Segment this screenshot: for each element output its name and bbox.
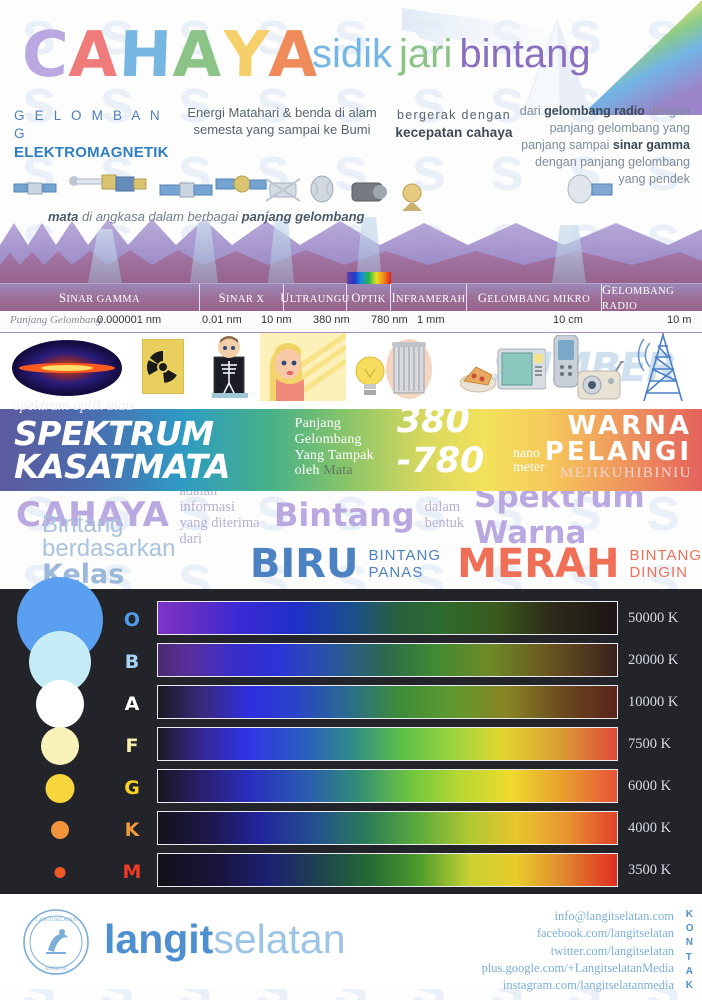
chart-row-F: 7500 K [157,723,702,765]
info-bintang-dingin: BINTANG DINGIN [629,547,702,582]
star-size-F [41,727,79,765]
warna-mnemonic: MEJIKUHIBINIU [545,466,692,481]
optical-color-chip [347,272,391,284]
kontak-letter: N [686,936,694,950]
wavelength-value: 0.01 nm [202,314,242,326]
telescope-icon-2 [311,176,333,202]
info-bintang: Bintang [274,496,415,534]
contact-link[interactable]: instagram.com/langitselatanmedia [482,977,674,994]
visible-spectrum-band: spektrum optik atau SPEKTRUM KASATMATA P… [0,409,702,491]
visible-range-unit: nano meter [513,447,545,476]
galaxy-gamma-map-icon [12,339,122,397]
radio-tower-icon [634,333,692,403]
em-band-label: GELOMBANG RADIO [602,283,702,313]
pjg-line2: Yang Tampak oleh Mata [295,448,383,479]
radiation-hazard-sign-icon [142,339,184,394]
info-b3-l2: PANAS [369,564,424,581]
unit-line1: nano [513,447,545,462]
langitselatan-logo-icon[interactable]: LANGITSELATAN ASTRO ID [22,908,90,976]
em-band-gelombang-radio[interactable]: GELOMBANG RADIO [602,284,702,312]
star-size-M [55,867,66,878]
spectrum-strip-B [157,643,618,677]
em-band-label: SINAR X [219,291,265,306]
temperature-label-G: 6000 K [624,778,702,795]
spectral-class-letter-K: K [125,819,140,841]
temperature-label-B: 20000 K [624,652,702,669]
info-b1-l1: Bintang berdasarkan [42,511,175,562]
radio-receiver-icon [576,361,630,401]
infographic-page: ssssssssssssssssssssssssssssssssssssssss… [0,0,702,1000]
chart-row-K: 4000 K [157,807,702,849]
warna-pelangi-group: WARNA PELANGI MEJIKUHIBINIU [545,413,692,481]
header: CAHAYA sidikjaribintang [0,0,702,95]
intro-gelombang-label: G E L O M B A N G [14,107,174,143]
page-title: CAHAYA [22,18,319,91]
brand-name: langitselatan [104,916,346,963]
pjg-line1: Panjang Gelombang [295,416,383,447]
spectral-class-letter-M: M [123,861,142,883]
star-size-G [46,774,75,803]
kontak-letter: K [686,979,694,993]
info-biru: BIRU [250,541,359,587]
satellite-caption-bold: mata [48,209,78,224]
warna-line2: PELANGI [545,439,692,466]
contact-link[interactable]: twitter.com/langitselatan [482,943,674,960]
telescope-icon-hubble [266,179,300,201]
star-size-K [51,821,69,839]
title-letter: C [21,18,71,91]
unit-line2: meter [513,461,545,476]
intro-electromagnetic: G E L O M B A N G ELEKTROMAGNETIK [14,101,174,173]
temperature-label-K: 4000 K [624,820,702,837]
subtitle-word: sidik [312,32,392,76]
satellite-icon-3 [116,177,146,191]
satellite-icon-2 [69,175,116,189]
chart-row-G: 6000 K [157,765,702,807]
info-a4-l2: bentuk [425,515,464,531]
wavelength-value: 10 m [667,314,691,326]
em-band-gelombang-mikro[interactable]: GELOMBANG MIKRO [467,284,602,312]
light-bulb-icon [354,353,386,399]
em-band-label: SINAR GAMMA [59,291,140,306]
temperature-label-A: 10000 K [624,694,702,711]
satellite-icon-1 [14,183,56,194]
temperature-label-O: 50000 K [624,610,702,627]
kontak-letter: A [686,965,694,979]
intro-range-gamma: sinar gamma [613,138,690,152]
brand-langit: langit [104,916,213,962]
kontak-vertical-label: KONTAK [686,908,694,993]
subtitle-word: bintang [459,32,590,76]
kasatmata-title: SPEKTRUM KASATMATA [14,417,281,483]
satellite-wave-zone: mata di angkasa dalam berbagai panjang g… [0,173,702,283]
em-band-label: INFRAMERAH [391,291,465,306]
em-band-sinar-gamma[interactable]: SINAR GAMMA [0,284,200,312]
satellite-caption-rest: di angkasa dalam berbagai [78,209,241,224]
spectral-class-letter-A: A [125,693,140,715]
satellite-icon-6 [568,175,612,203]
warna-line1: WARNA [545,413,692,440]
em-band-label: GELOMBANG MIKRO [478,291,590,306]
em-band-inframerah[interactable]: INFRAMERAH [391,284,467,312]
chart-row-B: 20000 K [157,639,702,681]
info-row-kelas: Bintang berdasarkan Kelas Spektrum BIRU … [0,539,702,589]
spectrum-strip-O [157,601,618,635]
intro-elektromagnetik-label: ELEKTROMAGNETIK [14,143,174,163]
kasatmata-subtitle: spektrum optik atau [14,399,281,414]
chart-spectrum-strips: 50000 K20000 K10000 K7500 K6000 K4000 K3… [157,589,702,894]
spectral-class-chart: OBAFGKM 50000 K20000 K10000 K7500 K6000 … [0,589,702,894]
em-band-optik[interactable]: OPTIK [347,284,391,312]
wavelength-value: 1 mm [417,314,445,326]
em-spectrum-bar: SINAR GAMMASINAR XULTRAUNGUOPTIKINFRAMER… [0,283,702,311]
info-b5-l2: DINGIN [629,564,688,581]
temperature-label-M: 3500 K [624,862,702,879]
wavelength-row: Panjang Gelombang 0.000001 nm0.01 nm10 n… [0,311,702,333]
satellite-icon-5 [216,176,266,192]
contact-link[interactable]: facebook.com/langitselatan [482,925,674,942]
kontak-letter: O [686,922,694,936]
svg-text:LANGITSELATAN: LANGITSELATAN [36,918,77,923]
wavelength-value: 10 cm [553,314,583,326]
kontak-letter: T [686,951,694,965]
spectrum-strip-M [157,853,618,887]
visible-range-value: 380 -780 [397,401,505,481]
em-band-label: ULTRAUNGU [280,291,349,306]
kasatmata-title-group: spektrum optik atau SPEKTRUM KASATMATA [14,399,281,483]
title-letter: Y [221,18,270,91]
spectrum-strip-A [157,685,618,719]
title-letter: A [171,18,223,91]
em-band-ultraungu[interactable]: ULTRAUNGU [284,284,347,312]
contact-link[interactable]: info@langitselatan.com [482,908,674,925]
footer: LANGITSELATAN ASTRO ID langitselatan inf… [0,894,702,989]
microwave-oven-icon [460,345,546,399]
kontak-letter: K [686,908,694,922]
intro-energy-text: Energi Matahari & benda di alam semesta … [174,101,390,173]
pjg-line2-b: Mata [323,463,353,478]
wavelength-caption: Panjang Gelombang [10,314,101,326]
brand-selatan: selatan [213,916,345,962]
wavelength-value: 780 nm [371,314,408,326]
info-dalam-bentuk: dalam bentuk [425,499,464,531]
spectrum-strip-G [157,769,618,803]
xray-person-icon [206,335,254,401]
page-subtitle: sidikjaribintang [312,32,598,77]
intro-text-row: G E L O M B A N G ELEKTROMAGNETIK Energi… [0,95,702,173]
star-size-A [36,680,84,728]
wavelength-value: 380 nm [313,314,350,326]
title-letter: A [68,18,120,91]
telescope-icon-4 [402,184,422,211]
subtitle-word: jari [399,32,452,76]
temperature-label-F: 7500 K [624,736,702,753]
info-b3-l1: BINTANG [369,547,442,564]
em-band-sinar-x[interactable]: SINAR X [200,284,284,312]
chart-star-column: OBAFGKM [0,589,157,894]
wavelength-value: 10 nm [261,314,292,326]
wavelength-visible-label: Panjang Gelombang Yang Tampak oleh Mata [295,416,383,479]
wavelength-value: 0.000001 nm [97,314,161,326]
chart-row-M: 3500 K [157,849,702,891]
satellites-and-waves [0,173,702,283]
satellite-icon-4 [160,183,212,197]
em-band-label: OPTIK [351,291,385,306]
uv-sunbathing-woman-icon [260,333,346,401]
intro-speed-line1: bergerak dengan [390,107,518,124]
spectrum-strip-F [157,727,618,761]
intro-speed-line2: kecepatan cahaya [395,125,512,140]
satellite-caption: mata di angkasa dalam berbagai panjang g… [48,209,365,224]
contact-list: info@langitselatan.comfacebook.com/langi… [482,908,674,994]
info-merah: MERAH [457,541,619,587]
info-bintang-panas: BINTANG PANAS [369,547,442,582]
spectral-class-letter-B: B [125,651,139,673]
info-a4-l1: dalam [425,499,460,515]
svg-text:ASTRO ID: ASTRO ID [45,967,68,972]
title-letter: H [118,18,174,91]
intro-speed-text: bergerak dengan kecepatan cahaya [390,101,518,173]
spectral-class-letter-G: G [124,777,140,799]
chart-row-A: 10000 K [157,681,702,723]
info-b5-l1: BINTANG [629,547,702,564]
intro-range-text: dari gelombang radio dengan panjang gelo… [518,101,690,173]
satellite-caption-bold2: panjang gelombang [242,209,365,224]
contact-link[interactable]: plus.google.com/+LangitselatanMedia [482,960,674,977]
infrared-heater-icon [386,337,432,399]
spectral-class-letter-O: O [124,609,140,631]
spectral-class-letter-F: F [126,735,139,757]
telescope-icon-3 [352,183,387,201]
intro-range-radio: gelombang radio [544,104,645,118]
intro-range-a: dari [520,104,544,118]
chart-row-O: 50000 K [157,597,702,639]
spectrum-strip-K [157,811,618,845]
